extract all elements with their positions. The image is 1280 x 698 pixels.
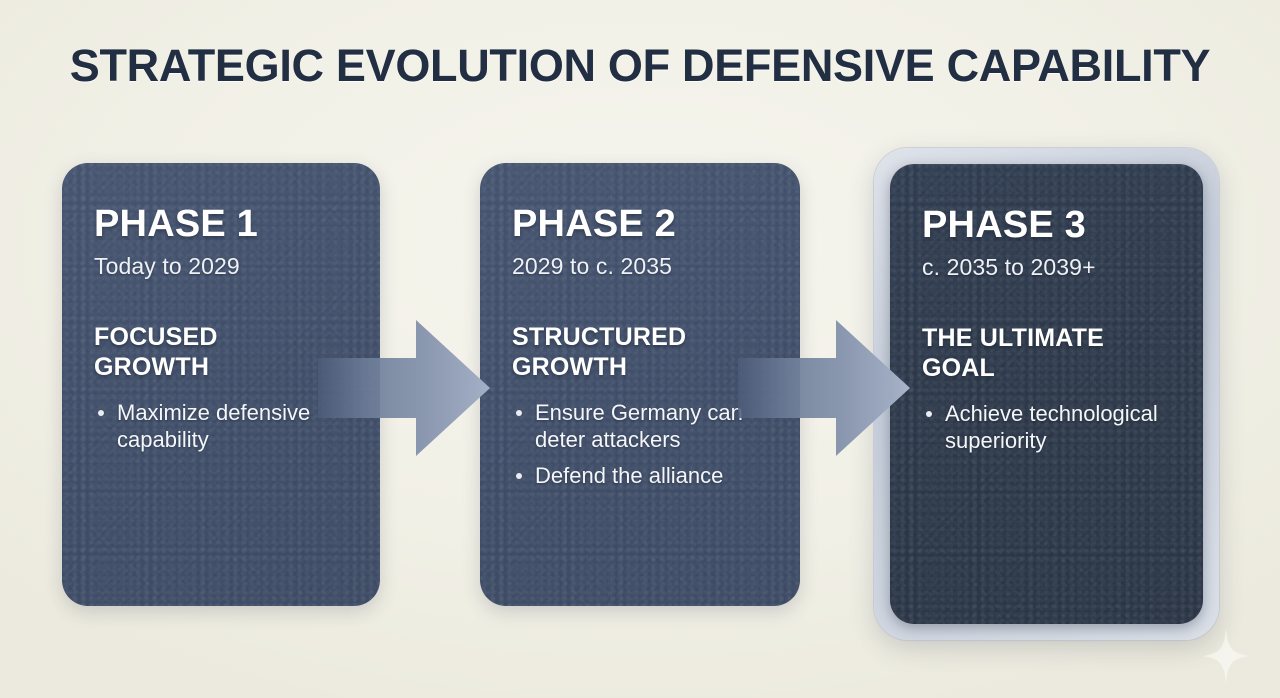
phase-1-subheading: FOCUSEDGROWTH <box>94 322 350 383</box>
phase-card-3: PHASE 3 c. 2035 to 2039+ THE ULTIMATEGOA… <box>890 164 1203 624</box>
phase-3-title: PHASE 3 <box>922 206 1173 246</box>
phase-1-title: PHASE 1 <box>94 205 350 245</box>
page-title: STRATEGIC EVOLUTION OF DEFENSIVE CAPABIL… <box>0 40 1280 92</box>
phase-1-bullet-list: Maximize defensive capability <box>94 399 350 454</box>
phase-2-range: 2029 to c. 2035 <box>512 253 770 280</box>
list-item: Achieve technological superiority <box>922 400 1173 455</box>
phase-card-1: PHASE 1 Today to 2029 FOCUSEDGROWTH Maxi… <box>62 163 380 606</box>
phase-1-range: Today to 2029 <box>94 253 350 280</box>
phase-card-2: PHASE 2 2029 to c. 2035 STRUCTUREDGROWTH… <box>480 163 800 606</box>
phase-3-subheading: THE ULTIMATEGOAL <box>922 323 1173 384</box>
sparkle-icon <box>1203 628 1249 684</box>
list-item: Defend the alliance <box>512 462 770 490</box>
list-item: Ensure Germany can deter attackers <box>512 399 770 454</box>
list-item: Maximize defensive capability <box>94 399 350 454</box>
phase-2-subheading: STRUCTUREDGROWTH <box>512 322 770 383</box>
phase-2-title: PHASE 2 <box>512 205 770 245</box>
phase-3-bullet-list: Achieve technological superiority <box>922 400 1173 455</box>
phase-3-range: c. 2035 to 2039+ <box>922 254 1173 281</box>
phase-2-bullet-list: Ensure Germany can deter attackers Defen… <box>512 399 770 490</box>
infographic-canvas: STRATEGIC EVOLUTION OF DEFENSIVE CAPABIL… <box>0 0 1280 698</box>
